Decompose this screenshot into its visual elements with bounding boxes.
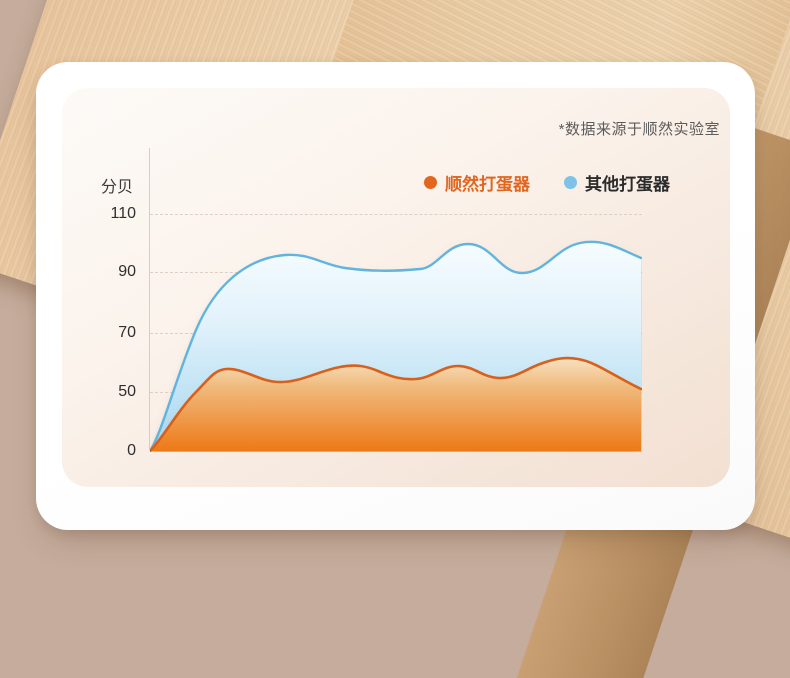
screenshot-root: *数据来源于顺然实验室 顺然打蛋器 其他打蛋器 分贝 110 90 70 50 … bbox=[0, 0, 790, 678]
chart-plot-area bbox=[0, 0, 790, 678]
series-group bbox=[150, 242, 641, 451]
